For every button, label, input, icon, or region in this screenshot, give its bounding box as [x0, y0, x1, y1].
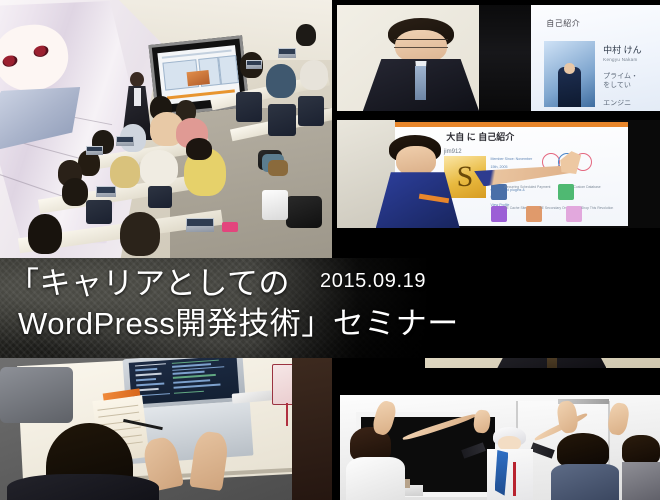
speaker1-slide: 自己紹介 中村 けん Kengyu Nakam プライム・ をしてい エンジニ [531, 5, 660, 111]
attendee-2 [551, 433, 621, 500]
attendee-1 [346, 427, 410, 500]
screen-tile-grid: Recurring Scheduled Payment Custom Datab… [488, 182, 614, 223]
title-line-2: WordPress開発技術」セミナー [8, 304, 448, 344]
slide-thumbnail [186, 70, 209, 86]
laptop-screen [129, 358, 239, 405]
slide-portrait [544, 41, 596, 107]
notebook-strap [286, 403, 288, 426]
speaker1-person [363, 18, 479, 111]
typist-shoulders [7, 474, 160, 500]
office-chair [0, 367, 73, 424]
laptop-coding-photo [0, 358, 332, 500]
speaker1-dark-panel [479, 5, 531, 111]
slide-heading: 自己紹介 [546, 18, 580, 29]
cosplayer [481, 427, 539, 500]
group-pointing-photo [340, 395, 660, 500]
slide-bullet-2: エンジニ [603, 98, 631, 108]
slide-bullet-1: プライム・ をしてい [603, 73, 638, 91]
speaker2-person [376, 135, 460, 228]
speaker-in-polo-photo: 大自 に 自己紹介 jim912 S Member Since: Novembe… [337, 120, 660, 228]
screen-orange-bar [395, 122, 628, 127]
seminar-banner: 自己紹介 中村 けん Kengyu Nakam プライム・ をしてい エンジニ … [0, 0, 660, 500]
attendee-3 [622, 435, 660, 500]
speaker-in-suit-photo: 自己紹介 中村 けん Kengyu Nakam プライム・ をしてい エンジニ [337, 5, 660, 111]
slide-speaker-romaji: Kengyu Nakam [603, 57, 637, 62]
bystander-person [292, 358, 332, 500]
seminar-classroom-photo [0, 0, 332, 258]
slide-speaker-name: 中村 けん [603, 43, 642, 56]
seminar-date: 2015.09.19 [320, 270, 426, 293]
eyeglasses-icon [394, 39, 447, 48]
